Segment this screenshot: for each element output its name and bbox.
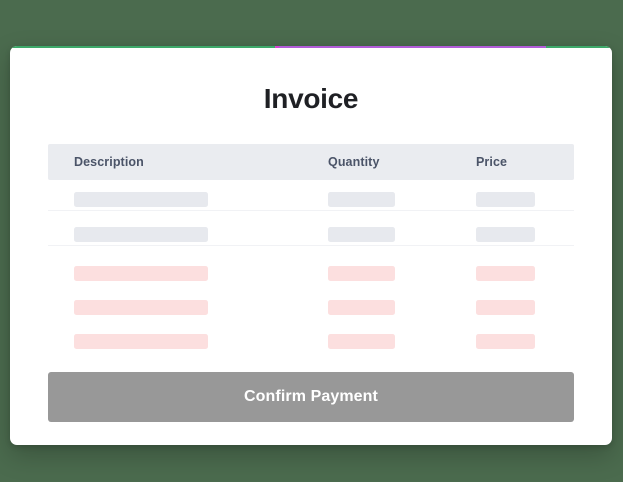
- cell-description: [48, 266, 328, 281]
- skeleton-placeholder-description: [74, 300, 208, 315]
- progress-segment-green-right: [546, 46, 612, 48]
- cell-quantity: [328, 266, 476, 281]
- invoice-table: Description Quantity Price: [48, 144, 574, 364]
- invoice-card: Invoice Description Quantity Price: [10, 46, 612, 445]
- skeleton-placeholder-description: [74, 227, 208, 242]
- skeleton-placeholder-description: [74, 266, 208, 281]
- skeleton-placeholder-quantity: [328, 192, 395, 207]
- progress-segment-purple-middle: [279, 46, 546, 48]
- table-row: [48, 296, 574, 318]
- cell-quantity: [328, 227, 476, 242]
- cell-description: [48, 334, 328, 349]
- skeleton-placeholder-quantity: [328, 334, 395, 349]
- cell-price: [476, 300, 574, 315]
- cell-price: [476, 266, 574, 281]
- skeleton-placeholder-price: [476, 192, 535, 207]
- cell-price: [476, 192, 574, 207]
- cell-description: [48, 300, 328, 315]
- table-row: [48, 262, 574, 284]
- skeleton-placeholder-quantity: [328, 300, 395, 315]
- skeleton-placeholder-price: [476, 227, 535, 242]
- skeleton-placeholder-price: [476, 300, 535, 315]
- confirm-payment-button[interactable]: Confirm Payment: [48, 372, 574, 422]
- loading-progress-bar: [10, 46, 612, 48]
- page-title: Invoice: [10, 83, 612, 115]
- table-body: [48, 180, 574, 352]
- table-row: [48, 223, 574, 246]
- skeleton-placeholder-price: [476, 266, 535, 281]
- table-row: [48, 188, 574, 211]
- skeleton-placeholder-quantity: [328, 227, 395, 242]
- screen-background: Invoice Description Quantity Price: [0, 0, 623, 482]
- cell-price: [476, 227, 574, 242]
- skeleton-placeholder-description: [74, 334, 208, 349]
- cell-quantity: [328, 192, 476, 207]
- column-header-quantity: Quantity: [328, 155, 476, 169]
- progress-segment-green-left: [10, 46, 275, 48]
- skeleton-placeholder-price: [476, 334, 535, 349]
- cell-price: [476, 334, 574, 349]
- column-header-price: Price: [476, 155, 574, 169]
- table-row: [48, 330, 574, 352]
- cell-quantity: [328, 334, 476, 349]
- skeleton-placeholder-description: [74, 192, 208, 207]
- table-header-row: Description Quantity Price: [48, 144, 574, 180]
- cell-description: [48, 192, 328, 207]
- cell-description: [48, 227, 328, 242]
- column-header-description: Description: [48, 155, 328, 169]
- cell-quantity: [328, 300, 476, 315]
- skeleton-placeholder-quantity: [328, 266, 395, 281]
